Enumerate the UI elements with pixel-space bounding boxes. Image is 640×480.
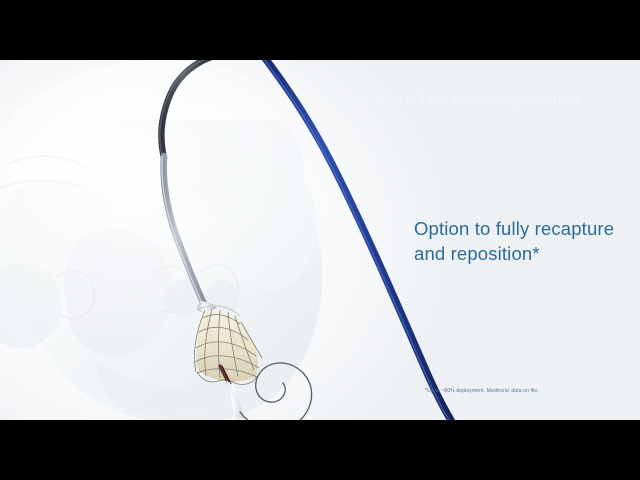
illustration-stage: Designed for 1st Time Positioning Accura… bbox=[0, 60, 640, 420]
letterbox-bar-bottom bbox=[0, 420, 640, 480]
body-headline: Option to fully recapture and reposition… bbox=[414, 216, 614, 266]
letterbox-bar-top bbox=[0, 0, 640, 60]
headline-banner-label: Designed for 1st Time Positioning Accura… bbox=[315, 92, 579, 107]
headline-banner: Designed for 1st Time Positioning Accura… bbox=[296, 84, 640, 114]
video-frame: Designed for 1st Time Positioning Accura… bbox=[0, 0, 640, 480]
footnote-text: *Up to ~80% deployment. Medtronic data o… bbox=[425, 388, 539, 394]
